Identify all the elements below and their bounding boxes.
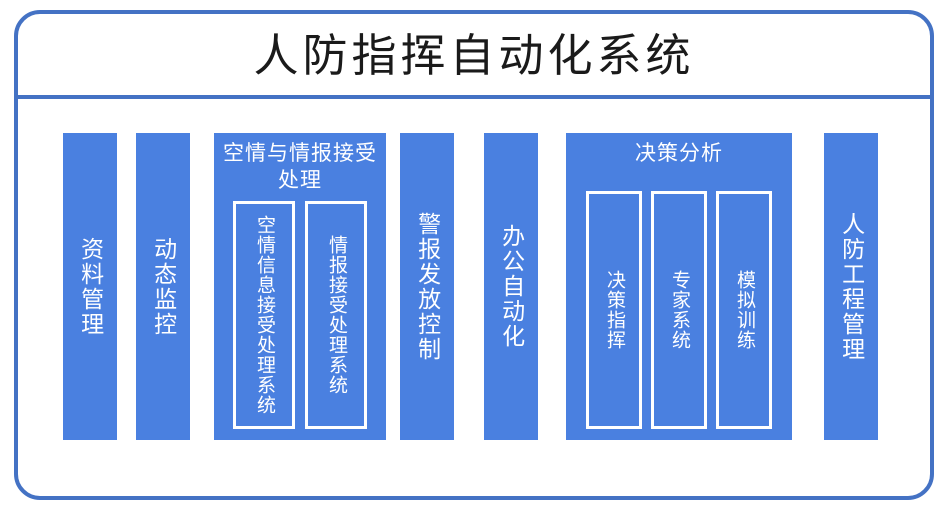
module-group-kongqing-qingbao[interactable]: 空情与情报接受处理 空情信息接受处理系统 情报接受处理系统 (214, 133, 386, 440)
diagram-canvas: 人防指挥自动化系统 资料管理 动态监控 空情与情报接受处理 空情信息接受处理系统… (0, 0, 952, 515)
module-bangong-zidonghua[interactable]: 办公自动化 (484, 133, 538, 440)
subitem-kongqing-xinxi-system[interactable]: 空情信息接受处理系统 (233, 201, 295, 429)
subitem-zhuanjia-xitong[interactable]: 专家系统 (651, 191, 707, 429)
title-divider (16, 95, 934, 99)
module-renfang-gongcheng-guanli[interactable]: 人防工程管理 (824, 133, 878, 440)
page-title: 人防指挥自动化系统 (253, 34, 694, 79)
module-ziliao-guanli[interactable]: 资料管理 (63, 133, 117, 440)
module-label: 动态监控 (149, 237, 176, 337)
module-group-juece-fenxi[interactable]: 决策分析 决策指挥 专家系统 模拟训练 (566, 133, 792, 440)
module-label: 办公自动化 (497, 224, 524, 349)
subitem-juece-zhihui[interactable]: 决策指挥 (586, 191, 642, 429)
module-row: 资料管理 动态监控 空情与情报接受处理 空情信息接受处理系统 情报接受处理系统 … (0, 120, 952, 460)
subitem-moni-xunlian[interactable]: 模拟训练 (716, 191, 772, 429)
module-label: 警报发放控制 (413, 212, 440, 362)
subitem-label: 专家系统 (668, 270, 690, 350)
group-title: 决策分析 (566, 140, 792, 167)
subitem-label: 模拟训练 (733, 270, 755, 350)
title-band: 人防指挥自动化系统 (18, 14, 930, 98)
subitem-qingbao-jieshou-system[interactable]: 情报接受处理系统 (305, 201, 367, 429)
subitem-label: 情报接受处理系统 (325, 235, 347, 395)
module-dongtai-jiankong[interactable]: 动态监控 (136, 133, 190, 440)
group-title: 空情与情报接受处理 (214, 140, 386, 194)
group-children: 决策指挥 专家系统 模拟训练 (566, 191, 792, 429)
module-jingbao-fafang-kongzhi[interactable]: 警报发放控制 (400, 133, 454, 440)
group-children: 空情信息接受处理系统 情报接受处理系统 (214, 201, 386, 429)
module-label: 资料管理 (76, 237, 103, 337)
subitem-label: 空情信息接受处理系统 (253, 215, 275, 415)
subitem-label: 决策指挥 (603, 270, 625, 350)
module-label: 人防工程管理 (837, 212, 864, 362)
